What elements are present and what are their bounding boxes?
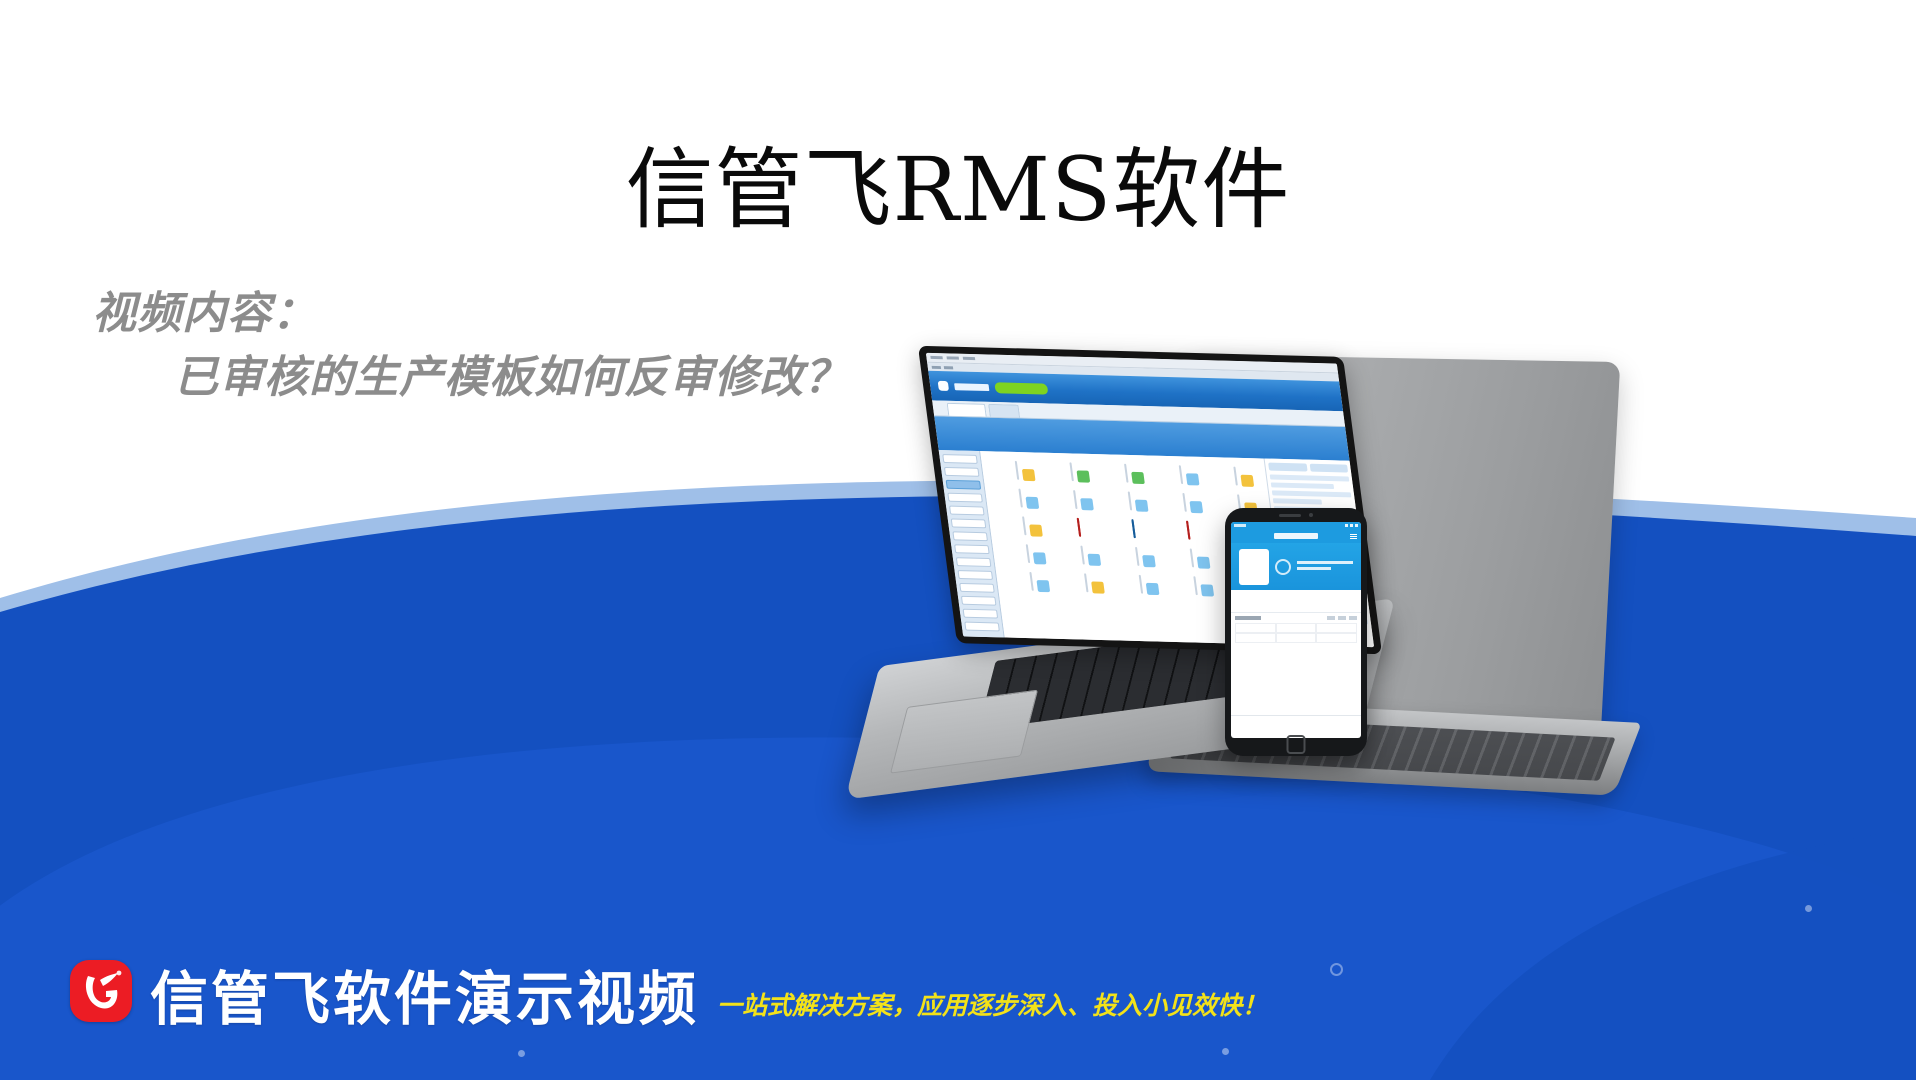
stats-filter[interactable] [1338,616,1346,620]
stat-cell[interactable] [1316,623,1357,633]
sidebar-item[interactable] [947,493,983,503]
brand-title: 信管飞软件演示视频 [150,970,699,1028]
banner-card [1239,549,1269,585]
sidebar-item[interactable] [956,557,992,567]
app-grid-icon[interactable] [1046,463,1097,482]
stat-cell[interactable] [1235,633,1276,643]
app-grid-icon[interactable] [1050,490,1101,509]
sidebar-item[interactable] [949,506,985,516]
app-grid-icon[interactable] [1006,572,1057,591]
stat-cell[interactable] [1235,623,1276,633]
status-time [1234,524,1246,527]
right-panel-row[interactable] [1273,498,1323,504]
phone-earpiece [1279,513,1313,517]
app-header-badge [994,382,1048,394]
sidebar-item[interactable] [952,531,988,541]
brand-tagline: 一站式解决方案，应用逐步深入、投入小见效快！ [717,993,1267,1018]
sidebar-item[interactable] [954,544,990,554]
sidebar-item[interactable] [951,518,987,528]
stats-grid [1235,623,1357,643]
brand-bar: 信管飞软件演示视频 一站式解决方案，应用逐步深入、投入小见效快！ [70,960,1267,1028]
stats-header [1235,616,1357,620]
slide-canvas: 信管飞RMS软件 视频内容： 已审核的生产模板如何反审修改？ [0,0,1916,1080]
subtitle-block: 视频内容： 已审核的生产模板如何反审修改？ [92,282,849,410]
right-panel-row[interactable] [1272,490,1352,497]
hamburger-menu-icon[interactable] [1350,533,1357,539]
sidebar-item[interactable] [959,583,995,593]
app-grid-icon[interactable] [1112,547,1163,566]
stat-cell[interactable] [1276,623,1317,633]
laptop-trackpad [890,690,1038,774]
phone-home-button[interactable] [1287,735,1306,754]
sidebar-item[interactable] [944,467,980,477]
sidebar-item[interactable] [963,609,999,619]
app-grid-icon[interactable] [1163,521,1214,540]
signal-icon [1345,524,1348,527]
menu-item[interactable] [930,356,943,359]
app-grid-icon[interactable] [999,517,1050,536]
phone-speaker [1279,514,1301,517]
sidebar-item[interactable] [957,570,993,580]
subtitle-content: 已审核的生产模板如何反审修改？ [92,346,849,410]
titlebar-item [932,365,942,368]
app-grid-icon[interactable] [1210,467,1261,486]
menu-item[interactable] [963,357,976,360]
banner-text-line [1297,561,1353,564]
sidebar-item-selected[interactable] [946,480,982,490]
app-brand-text [954,383,989,391]
sidebar-item[interactable] [961,596,997,606]
phone-app-title [1274,533,1318,539]
phone-stats-section [1231,612,1361,643]
phone-app-header [1231,529,1361,543]
app-grid-icon[interactable] [1116,575,1167,594]
page-title: 信管飞RMS软件 [0,143,1916,236]
device-cluster [880,380,1916,960]
xinguanfei-logo-icon [70,960,132,1022]
banner-text [1297,561,1353,573]
app-grid-icon[interactable] [1061,574,1112,593]
right-panel-tabs [1268,463,1348,473]
banner-text-line [1297,567,1331,570]
right-panel-tab[interactable] [1268,463,1307,472]
app-grid-icon[interactable] [995,489,1046,508]
phone-screen [1231,522,1361,738]
app-grid-icon[interactable] [1156,466,1207,485]
phone-status-bar [1231,522,1361,529]
smartphone [1225,508,1367,756]
banner-ring-icon [1275,559,1291,575]
app-tab[interactable] [988,404,1020,418]
sidebar-item[interactable] [942,454,978,464]
phone-icon-grid [1231,590,1361,612]
right-panel-tab[interactable] [1309,464,1348,473]
app-logo-icon [938,381,949,391]
app-grid-icon[interactable] [1057,546,1108,565]
app-grid-icon[interactable] [1167,549,1218,568]
decorative-dot [1222,1048,1229,1055]
app-grid-icon[interactable] [1108,520,1159,539]
right-panel-row[interactable] [1270,474,1350,481]
right-panel-row[interactable] [1271,482,1335,489]
phone-banner [1231,543,1361,590]
stats-title [1235,616,1261,620]
app-grid-icon[interactable] [1101,464,1152,483]
status-indicators [1345,524,1358,527]
subtitle-label: 视频内容： [92,282,849,346]
bottom-nav-profile[interactable] [1329,716,1362,738]
menu-item[interactable] [947,356,960,359]
app-grid-icon[interactable] [1159,493,1210,512]
stats-filter[interactable] [1349,616,1357,620]
stats-filters [1327,616,1357,620]
phone-camera-icon [1309,513,1313,517]
stat-cell[interactable] [1276,633,1317,643]
app-grid-icon[interactable] [1105,492,1156,511]
bottom-nav-home[interactable] [1231,716,1264,738]
stat-cell[interactable] [1316,633,1357,643]
wifi-icon [1350,524,1353,527]
battery-icon [1355,524,1358,527]
titlebar-item [944,366,954,369]
app-grid-icon[interactable] [1003,545,1054,564]
app-tab[interactable] [947,403,987,417]
sidebar-item[interactable] [964,622,1000,632]
stats-filter[interactable] [1327,616,1335,620]
app-grid-icon[interactable] [1170,577,1221,596]
decorative-dot [518,1050,525,1057]
app-grid-icon[interactable] [1054,518,1105,537]
app-grid-icon[interactable] [992,461,1043,480]
